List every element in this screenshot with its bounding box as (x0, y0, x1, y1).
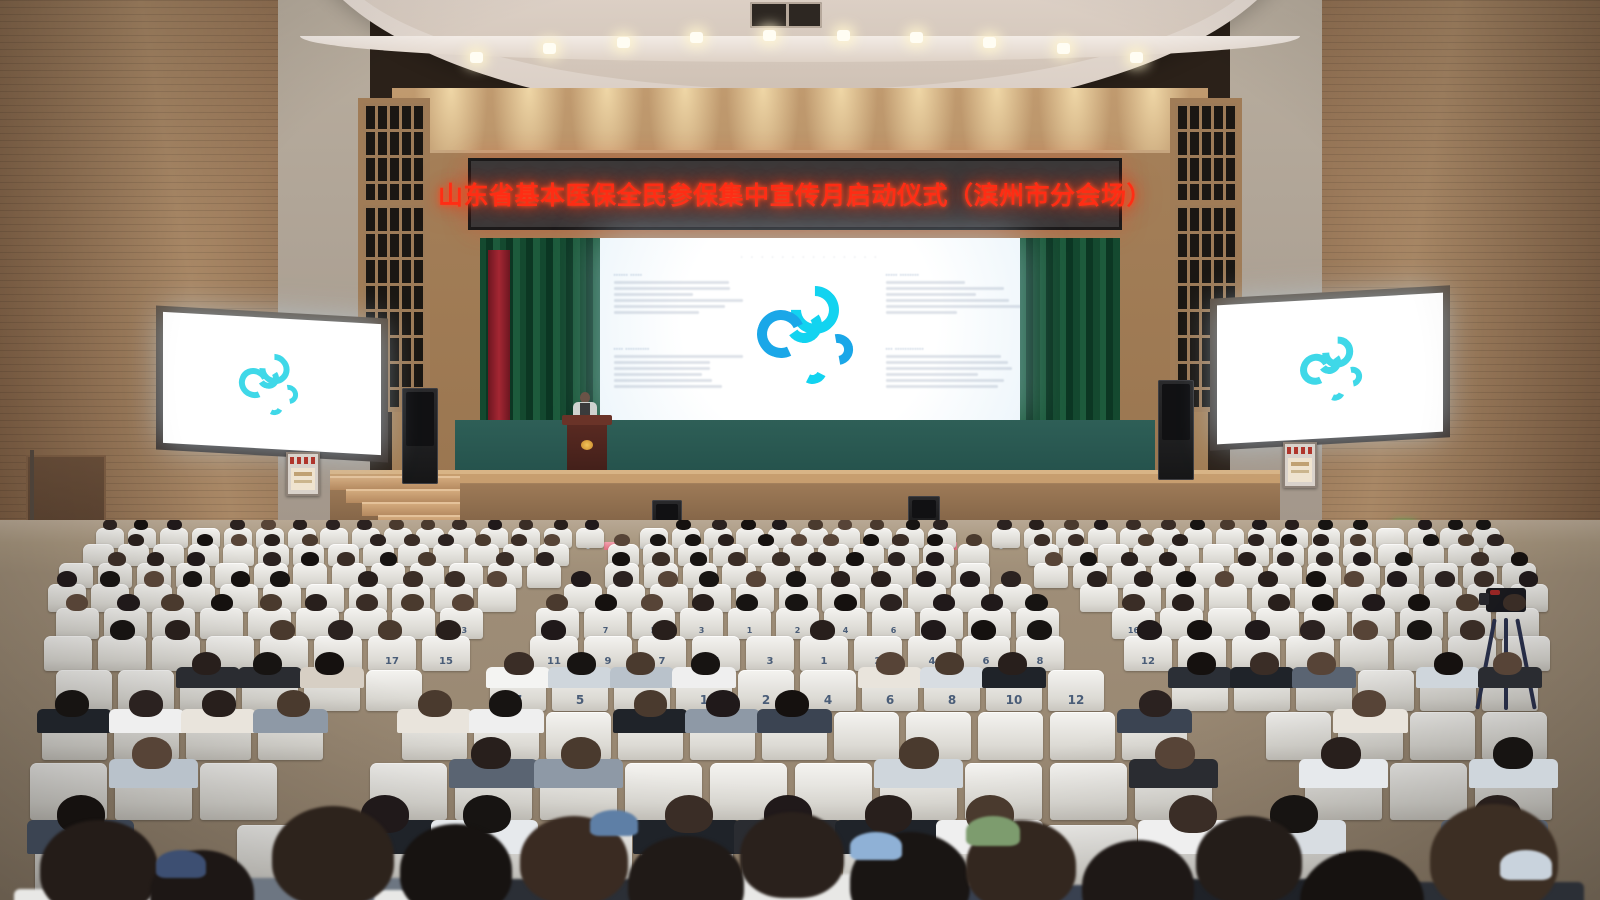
audience-cap (1500, 850, 1552, 880)
audience-member (1238, 552, 1256, 566)
audience-member (1418, 520, 1433, 530)
audience-member (128, 534, 144, 546)
audience-member (718, 534, 734, 546)
auditorium-seat[interactable] (1080, 584, 1118, 612)
audience-member (1460, 620, 1485, 640)
audience-member (519, 520, 534, 530)
audience-member (378, 620, 403, 640)
audience-member (758, 534, 774, 546)
audience-member (253, 652, 282, 675)
audience-member (823, 534, 839, 546)
audience-member (1172, 594, 1194, 611)
audience-member (746, 571, 766, 587)
downlight-icon (690, 32, 703, 43)
foreground-audience-member (740, 812, 844, 898)
audience-member (183, 571, 203, 587)
audience-member (786, 571, 806, 587)
stage-step (330, 476, 460, 490)
audience-member (926, 552, 944, 566)
slide-title-text: · · · · · · · · · · · · · · (600, 254, 1020, 261)
audience-member (161, 594, 183, 611)
audience-member (270, 571, 290, 587)
audience-member (834, 594, 856, 611)
audience-member (1258, 571, 1278, 587)
audience-member (211, 594, 233, 611)
audience-member (1344, 571, 1364, 587)
audience-member (892, 534, 908, 546)
audience-member (134, 520, 149, 530)
auditorium-seat[interactable]: 1 (800, 636, 848, 671)
auditorium-seat[interactable] (200, 763, 277, 820)
audience-member (132, 737, 172, 769)
auditorium-seat[interactable] (978, 712, 1043, 760)
audience-member (401, 594, 423, 611)
audience-member (541, 620, 566, 640)
audience-member (1456, 594, 1478, 611)
left-wall-notice-board (286, 452, 320, 496)
audience-member (452, 520, 467, 530)
audience-member (927, 534, 943, 546)
audience-cap (850, 832, 902, 860)
audience-member (358, 571, 378, 587)
downlight-icon (910, 32, 923, 43)
audience-member (772, 552, 790, 566)
auditorium-seat[interactable]: 3 (746, 636, 794, 671)
led-banner: 山东省基本医保全民参保集中宣传月启动仪式（滨州市分会场） (468, 158, 1122, 230)
audience-member (933, 594, 955, 611)
audience-member (1094, 520, 1109, 530)
audience-member (1034, 534, 1050, 546)
audience-cap (966, 816, 1020, 846)
downlight-icon (617, 37, 630, 48)
auditorium-seat[interactable] (576, 528, 604, 548)
auditorium-screenshot: 山东省基本医保全民参保集中宣传月启动仪式（滨州市分会场） · · · · · ·… (0, 0, 1600, 900)
right-wood-wall (1300, 0, 1600, 560)
audience-member (487, 571, 507, 587)
audience-member (1487, 534, 1503, 546)
audience-member (117, 594, 139, 611)
audience-member (1139, 690, 1173, 717)
seat-number: 17 (368, 656, 416, 667)
downlight-icon (983, 37, 996, 48)
downlight-icon (763, 30, 776, 41)
audience-member (1087, 571, 1107, 587)
slide-text-column: ▪▪▪▪ ▪▪▪▪▪▪▪▪▪▪ (614, 346, 734, 391)
audience-member (147, 552, 165, 566)
podium-emblem-icon (581, 440, 593, 450)
stage-step (362, 502, 460, 516)
auditorium-seat[interactable]: 3 (680, 608, 723, 639)
audience-member (595, 594, 617, 611)
audience-member (260, 594, 282, 611)
audience-member (935, 652, 964, 675)
audience-member (165, 620, 190, 640)
audience-member (1176, 571, 1196, 587)
audience-member (1281, 534, 1297, 546)
auditorium-seat[interactable] (56, 608, 99, 639)
right-side-screen (1217, 293, 1443, 445)
audience-member (658, 571, 678, 587)
audience-member (192, 652, 221, 675)
audience-member (1126, 520, 1141, 530)
audience-member (613, 571, 633, 587)
audience-member (1352, 690, 1386, 717)
audience-member (690, 552, 708, 566)
audience-member (471, 737, 511, 769)
audience-member (554, 520, 569, 530)
audience-member (1045, 552, 1063, 566)
audience-member (1408, 594, 1430, 611)
stage-step (346, 489, 460, 503)
audience-member (536, 552, 554, 566)
audience-member (652, 620, 677, 640)
audience-member (546, 594, 568, 611)
audience-member (1434, 652, 1463, 675)
audience-member (264, 534, 280, 546)
audience-member (1519, 571, 1539, 587)
audience-member (1064, 520, 1079, 530)
audience-member (1172, 534, 1188, 546)
pa-speaker-right-stage (1158, 380, 1194, 480)
audience-member (846, 552, 864, 566)
audience-member (357, 520, 372, 530)
health-insurance-logo-icon (1295, 329, 1373, 411)
audience-member (971, 620, 996, 640)
audience-member (997, 520, 1012, 530)
audience-member (775, 690, 809, 717)
audience-member (110, 620, 135, 640)
audience-member (504, 652, 533, 675)
audience-member (496, 552, 514, 566)
audience-member (55, 690, 89, 717)
auditorium-seat[interactable] (1034, 563, 1068, 588)
audience-member (436, 620, 461, 640)
auditorium-seat[interactable] (834, 712, 899, 760)
audience-member (865, 795, 913, 833)
audience-member (1025, 594, 1047, 611)
audience-member (1029, 520, 1044, 530)
audience-member (1448, 520, 1463, 530)
audience-member (966, 534, 982, 546)
audience-member (870, 520, 885, 530)
audience-member (1471, 552, 1489, 566)
auditorium-seat[interactable] (44, 636, 92, 671)
slide-text-column: ▪▪▪▪▪▪ ▪▪▪▪▪ (614, 272, 734, 317)
audience-member (57, 571, 77, 587)
audience-member (1138, 534, 1154, 546)
audience-member (418, 552, 436, 566)
downlight-icon (1130, 52, 1143, 63)
foreground-audience-member (40, 820, 158, 900)
audience-cap (590, 810, 638, 836)
downlight-icon (837, 30, 850, 41)
audience-member (1190, 520, 1205, 530)
seat-number: 6 (872, 626, 915, 635)
audience-member (305, 594, 327, 611)
audience-member (452, 594, 474, 611)
audience-member (634, 690, 668, 717)
audience-member (475, 534, 491, 546)
audience-member (876, 652, 905, 675)
audience-member (880, 594, 902, 611)
seat-number: 1 (728, 626, 771, 635)
audience-member (1268, 594, 1290, 611)
audience-member (1423, 534, 1439, 546)
audience-member (356, 594, 378, 611)
audience-member (692, 594, 714, 611)
audience-member (66, 594, 88, 611)
main-projection-screen: · · · · · · · · · · · · · · ▪▪▪▪▪▪ ▪▪▪▪▪… (600, 238, 1020, 420)
audience-member (1493, 737, 1533, 769)
foreground-audience-member (1196, 816, 1302, 900)
podium (567, 418, 607, 470)
audience-member (302, 534, 318, 546)
audience-member (1001, 571, 1021, 587)
audience-member (808, 552, 826, 566)
audience-member (981, 594, 1003, 611)
downlight-icon (470, 52, 483, 63)
audience-member (676, 520, 691, 530)
audience-member (712, 520, 727, 530)
audience-member (103, 520, 118, 530)
audience-member (741, 520, 756, 530)
audience-member (1316, 552, 1334, 566)
audience-member (1121, 552, 1139, 566)
audience-member (810, 620, 835, 640)
audience-member (1313, 534, 1329, 546)
audience-member (1252, 520, 1267, 530)
audience-member (916, 571, 936, 587)
auditorium-seat[interactable] (1410, 712, 1475, 760)
audience-member (691, 652, 720, 675)
audience-member (231, 534, 247, 546)
audience-member (1248, 534, 1264, 546)
audience-member (167, 520, 182, 530)
slide-text-column: ▪▪▪ ▪▪▪▪▪▪▪▪▪▪▪▪ (886, 346, 1006, 391)
audience-member (1155, 737, 1195, 769)
audience-member (1493, 652, 1522, 675)
audience-member (1068, 534, 1084, 546)
audience-member (1318, 520, 1333, 530)
audience-member (1027, 620, 1052, 640)
audience-member (445, 571, 465, 587)
audience-member (301, 552, 319, 566)
audience-member (1474, 571, 1494, 587)
audience-member (1458, 534, 1474, 546)
audience-member (1395, 552, 1413, 566)
audience-member (489, 690, 523, 717)
auditorium-seat[interactable]: 15 (422, 636, 470, 671)
left-side-screen (163, 312, 381, 455)
audience-member (1511, 552, 1529, 566)
led-banner-text: 山东省基本医保全民参保集中宣传月启动仪式（滨州市分会场） (438, 176, 1152, 212)
slide-text-column: ▪▪▪▪▪ ▪▪▪▪▪▪▪▪ (886, 272, 1006, 317)
audience-member (871, 571, 891, 587)
audience-member (1250, 652, 1279, 675)
audience-member (1134, 571, 1154, 587)
audience-member (561, 737, 601, 769)
audience-member (1435, 571, 1455, 587)
audience-member (197, 534, 213, 546)
audience-member (1285, 520, 1300, 530)
audience-member (1137, 620, 1162, 640)
auditorium-seat[interactable] (1340, 636, 1388, 671)
audience-member (1215, 571, 1235, 587)
audience-member (921, 620, 946, 640)
audience-seating-area: 1397531246810121617151197531246812147531… (0, 520, 1600, 900)
audience-member (277, 690, 311, 717)
audience-member (960, 571, 980, 587)
auditorium-seat[interactable] (98, 636, 146, 671)
audience-member (1187, 620, 1212, 640)
audience-member (488, 520, 503, 530)
auditorium-seat[interactable]: 7 (584, 608, 627, 639)
audience-member (685, 534, 701, 546)
audience-member (1245, 620, 1270, 640)
ceiling-vent-icon (750, 2, 822, 28)
audience-member (380, 552, 398, 566)
audience-member (906, 520, 921, 530)
auditorium-seat[interactable] (1390, 763, 1467, 820)
seat-number: 12 (1048, 693, 1104, 707)
audience-member (230, 520, 245, 530)
audience-member (933, 520, 948, 530)
auditorium-seat[interactable] (1050, 712, 1115, 760)
audience-member (1300, 620, 1325, 640)
audience-member (1312, 594, 1334, 611)
audience-cap (156, 850, 206, 878)
audience-member (736, 594, 758, 611)
audience-member (403, 571, 423, 587)
audience-member (728, 552, 746, 566)
auditorium-seat[interactable]: 12 (1124, 636, 1172, 671)
audience-member (1122, 594, 1144, 611)
audience-member (418, 690, 452, 717)
audience-member (652, 552, 670, 566)
audience-member (1407, 620, 1432, 640)
audience-member (641, 594, 663, 611)
audience-member (1220, 520, 1235, 530)
audience-member (699, 571, 719, 587)
seat-number: 3 (746, 656, 794, 667)
audience-member (1307, 652, 1336, 675)
auditorium-seat[interactable] (527, 563, 561, 588)
audience-member (1387, 571, 1407, 587)
audience-member (785, 594, 807, 611)
audience-member (315, 652, 344, 675)
audience-member (1277, 552, 1295, 566)
auditorium-seat[interactable]: 6 (872, 608, 915, 639)
audience-member (270, 620, 295, 640)
audience-member (293, 520, 308, 530)
auditorium-seat[interactable] (992, 528, 1020, 548)
audience-member (998, 652, 1027, 675)
audience-member (144, 571, 164, 587)
audience-member (567, 652, 596, 675)
audience-member (544, 534, 560, 546)
audience-member (187, 552, 205, 566)
auditorium-seat[interactable] (478, 584, 516, 612)
seat-number: 10 (986, 693, 1042, 707)
audience-member (261, 520, 276, 530)
downlight-icon (1057, 43, 1070, 54)
audience-member (614, 534, 630, 546)
audience-member (863, 534, 879, 546)
right-wall-notice-board (1283, 442, 1317, 488)
audience-member (808, 520, 823, 530)
audience-member (129, 690, 163, 717)
health-insurance-logo-icon (235, 346, 309, 424)
audience-member (1353, 520, 1368, 530)
audience-member (838, 520, 853, 530)
audience-member (706, 690, 740, 717)
audience-member (1353, 620, 1378, 640)
auditorium-seat[interactable]: 12 (1048, 670, 1104, 711)
audience-member (231, 571, 251, 587)
audience-member (1187, 652, 1216, 675)
audience-member (650, 534, 666, 546)
audience-member (899, 737, 939, 769)
audience-member (337, 552, 355, 566)
audience-member (1080, 552, 1098, 566)
foreground-audience-member (272, 806, 394, 900)
audience-member (772, 520, 787, 530)
audience-member (791, 534, 807, 546)
audience-member (585, 520, 600, 530)
seat-number: 5 (552, 693, 608, 707)
seat-number: 6 (862, 693, 918, 707)
audience-member (612, 552, 630, 566)
auditorium-seat[interactable]: 1 (728, 608, 771, 639)
audience-member (1476, 520, 1491, 530)
audience-member (888, 552, 906, 566)
health-insurance-logo-icon (750, 276, 870, 396)
audience-member (571, 571, 591, 587)
seat-number: 8 (924, 693, 980, 707)
seat-number: 15 (422, 656, 470, 667)
audience-member (1353, 552, 1371, 566)
audience-member (1503, 594, 1525, 611)
audience-member (831, 571, 851, 587)
audience-member (328, 620, 353, 640)
audience-member (404, 534, 420, 546)
auditorium-seat[interactable]: 17 (368, 636, 416, 671)
audience-member (1306, 571, 1326, 587)
audience-member (389, 520, 404, 530)
audience-member (202, 690, 236, 717)
audience-member (421, 520, 436, 530)
auditorium-seat[interactable] (366, 670, 422, 711)
auditorium-seat[interactable] (1050, 763, 1127, 820)
auditorium-seat[interactable] (200, 608, 243, 639)
audience-member (1161, 520, 1176, 530)
audience-member (1362, 594, 1384, 611)
audience-member (1321, 737, 1361, 769)
audience-member (626, 652, 655, 675)
audience-member (1169, 795, 1217, 833)
audience-member (263, 552, 281, 566)
seat-number: 12 (1124, 656, 1172, 667)
audience-member (665, 795, 713, 833)
seat-number: 3 (680, 626, 723, 635)
audience-member (100, 571, 120, 587)
audience-member (1159, 552, 1177, 566)
seat-number: 1 (800, 656, 848, 667)
audience-member (1350, 534, 1366, 546)
audience-member (438, 534, 454, 546)
pa-speaker-left-stage (402, 388, 438, 484)
audience-member (108, 552, 126, 566)
